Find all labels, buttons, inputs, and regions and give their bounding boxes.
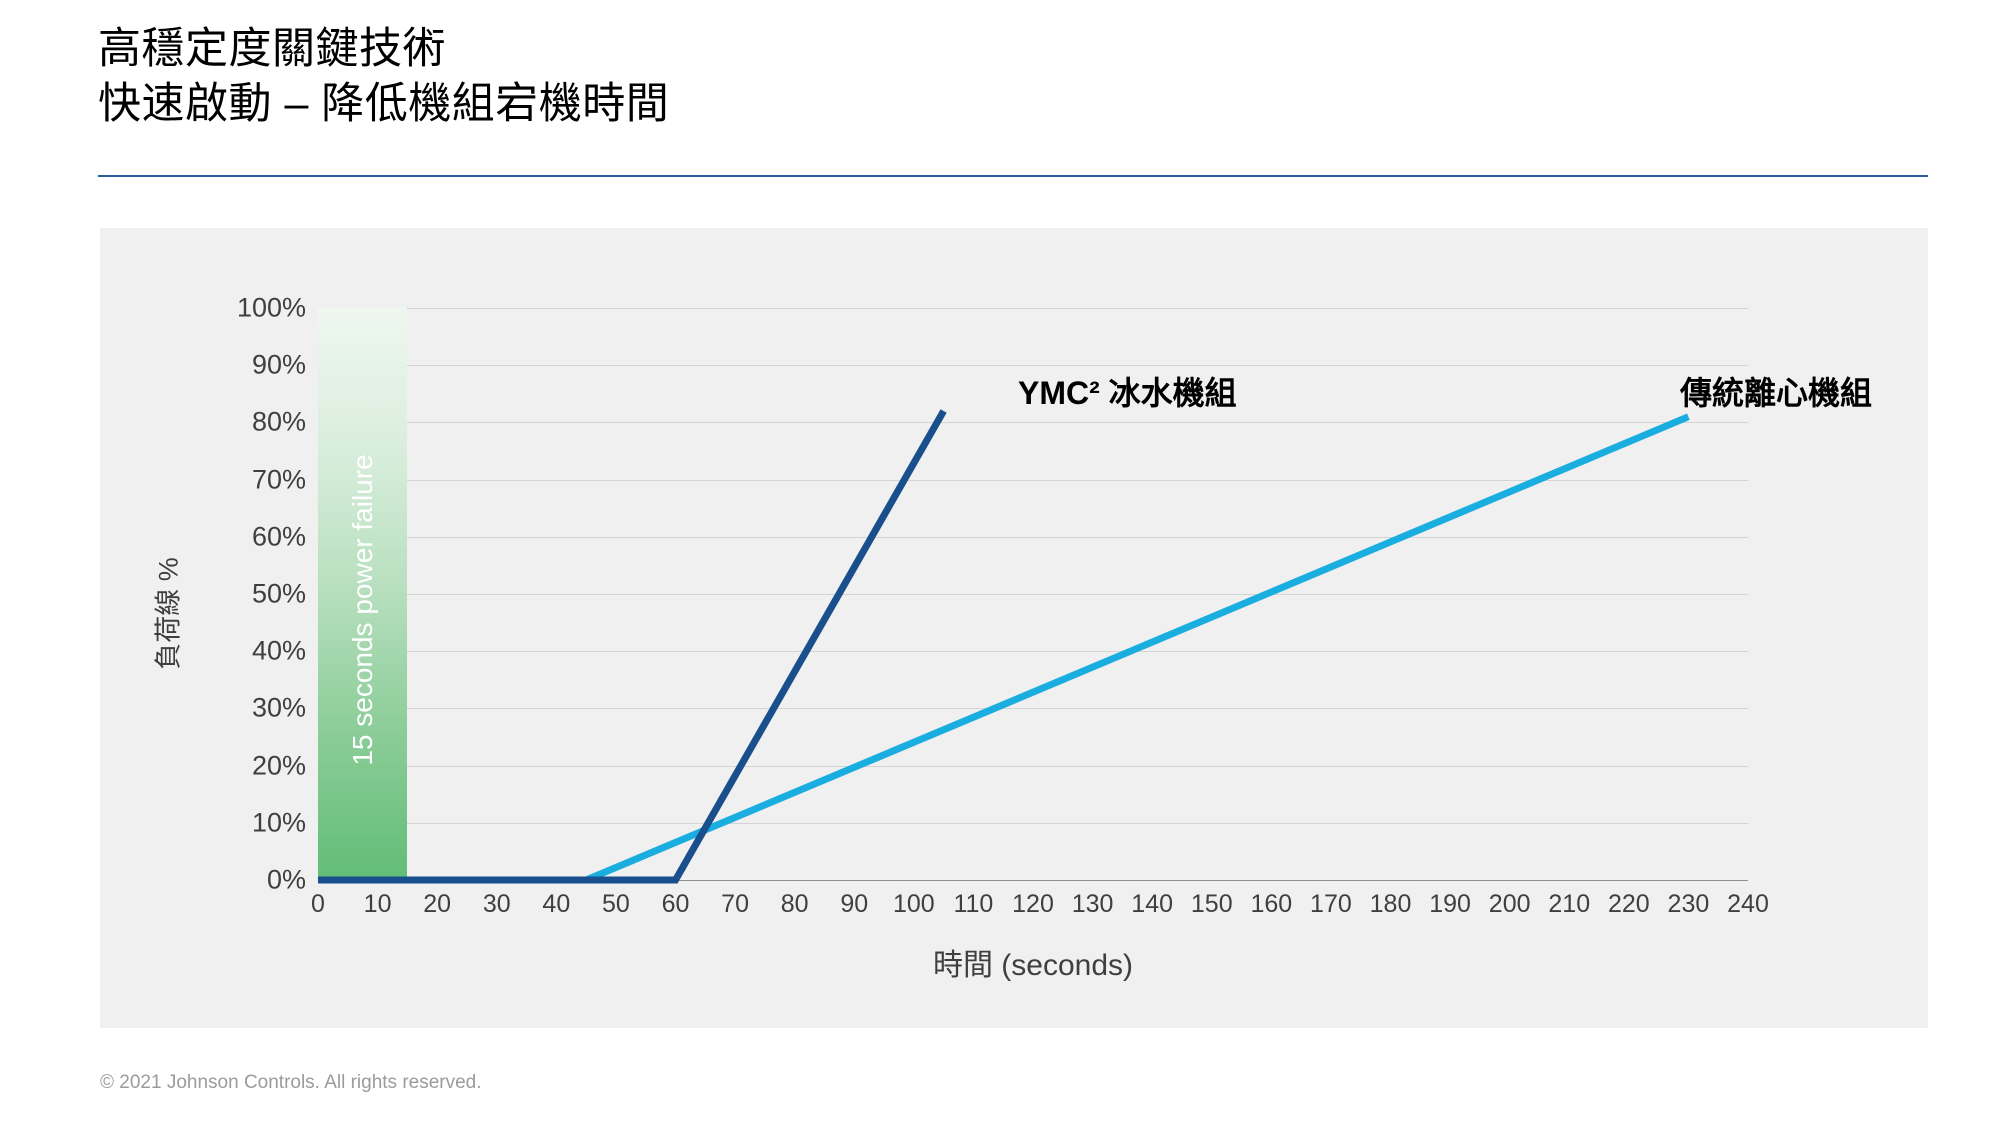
y-tick-label: 40% [196, 636, 306, 667]
footer-copyright: © 2021 Johnson Controls. All rights rese… [100, 1072, 482, 1094]
y-tick-label: 50% [196, 579, 306, 610]
series-label-ymc2: YMC² 冰水機組 [1018, 368, 1237, 414]
y-tick-label: 20% [196, 750, 306, 781]
y-tick-label: 90% [196, 350, 306, 381]
y-tick-label: 30% [196, 693, 306, 724]
series-label-traditional: 傳統離心機組 [1680, 368, 1872, 414]
y-tick-label: 70% [196, 464, 306, 495]
chart-panel: 負荷線 % 0%10%20%30%40%50%60%70%80%90%100% … [100, 228, 1928, 1028]
y-axis-tick-labels: 0%10%20%30%40%50%60%70%80%90%100% [188, 308, 306, 880]
page-title-line-2: 快速啟動 – 降低機組宕機時間 [98, 77, 1928, 132]
x-axis-title: 時間 (seconds) [318, 940, 1748, 984]
y-tick-label: 10% [196, 807, 306, 838]
y-tick-label: 60% [196, 521, 306, 552]
y-axis-title: 負荷線 % [147, 464, 186, 764]
x-tick-label: 240 [1703, 890, 1793, 919]
title-divider-rule [98, 175, 1928, 177]
page-title-line-1: 高穩定度關鍵技術 [98, 22, 1928, 77]
plot-area: 15 seconds power failure YMC² 冰水機組 傳統離心機… [318, 308, 1748, 880]
slide-title-block: 高穩定度關鍵技術 快速啟動 – 降低機組宕機時間 [98, 22, 1928, 132]
y-tick-label: 80% [196, 407, 306, 438]
series-line-traditional [318, 417, 1688, 880]
series-line-ymc2 [318, 411, 944, 880]
x-axis-tick-labels: 0102030405060708090100110120130140150160… [318, 890, 1748, 930]
y-tick-label: 100% [196, 293, 306, 324]
